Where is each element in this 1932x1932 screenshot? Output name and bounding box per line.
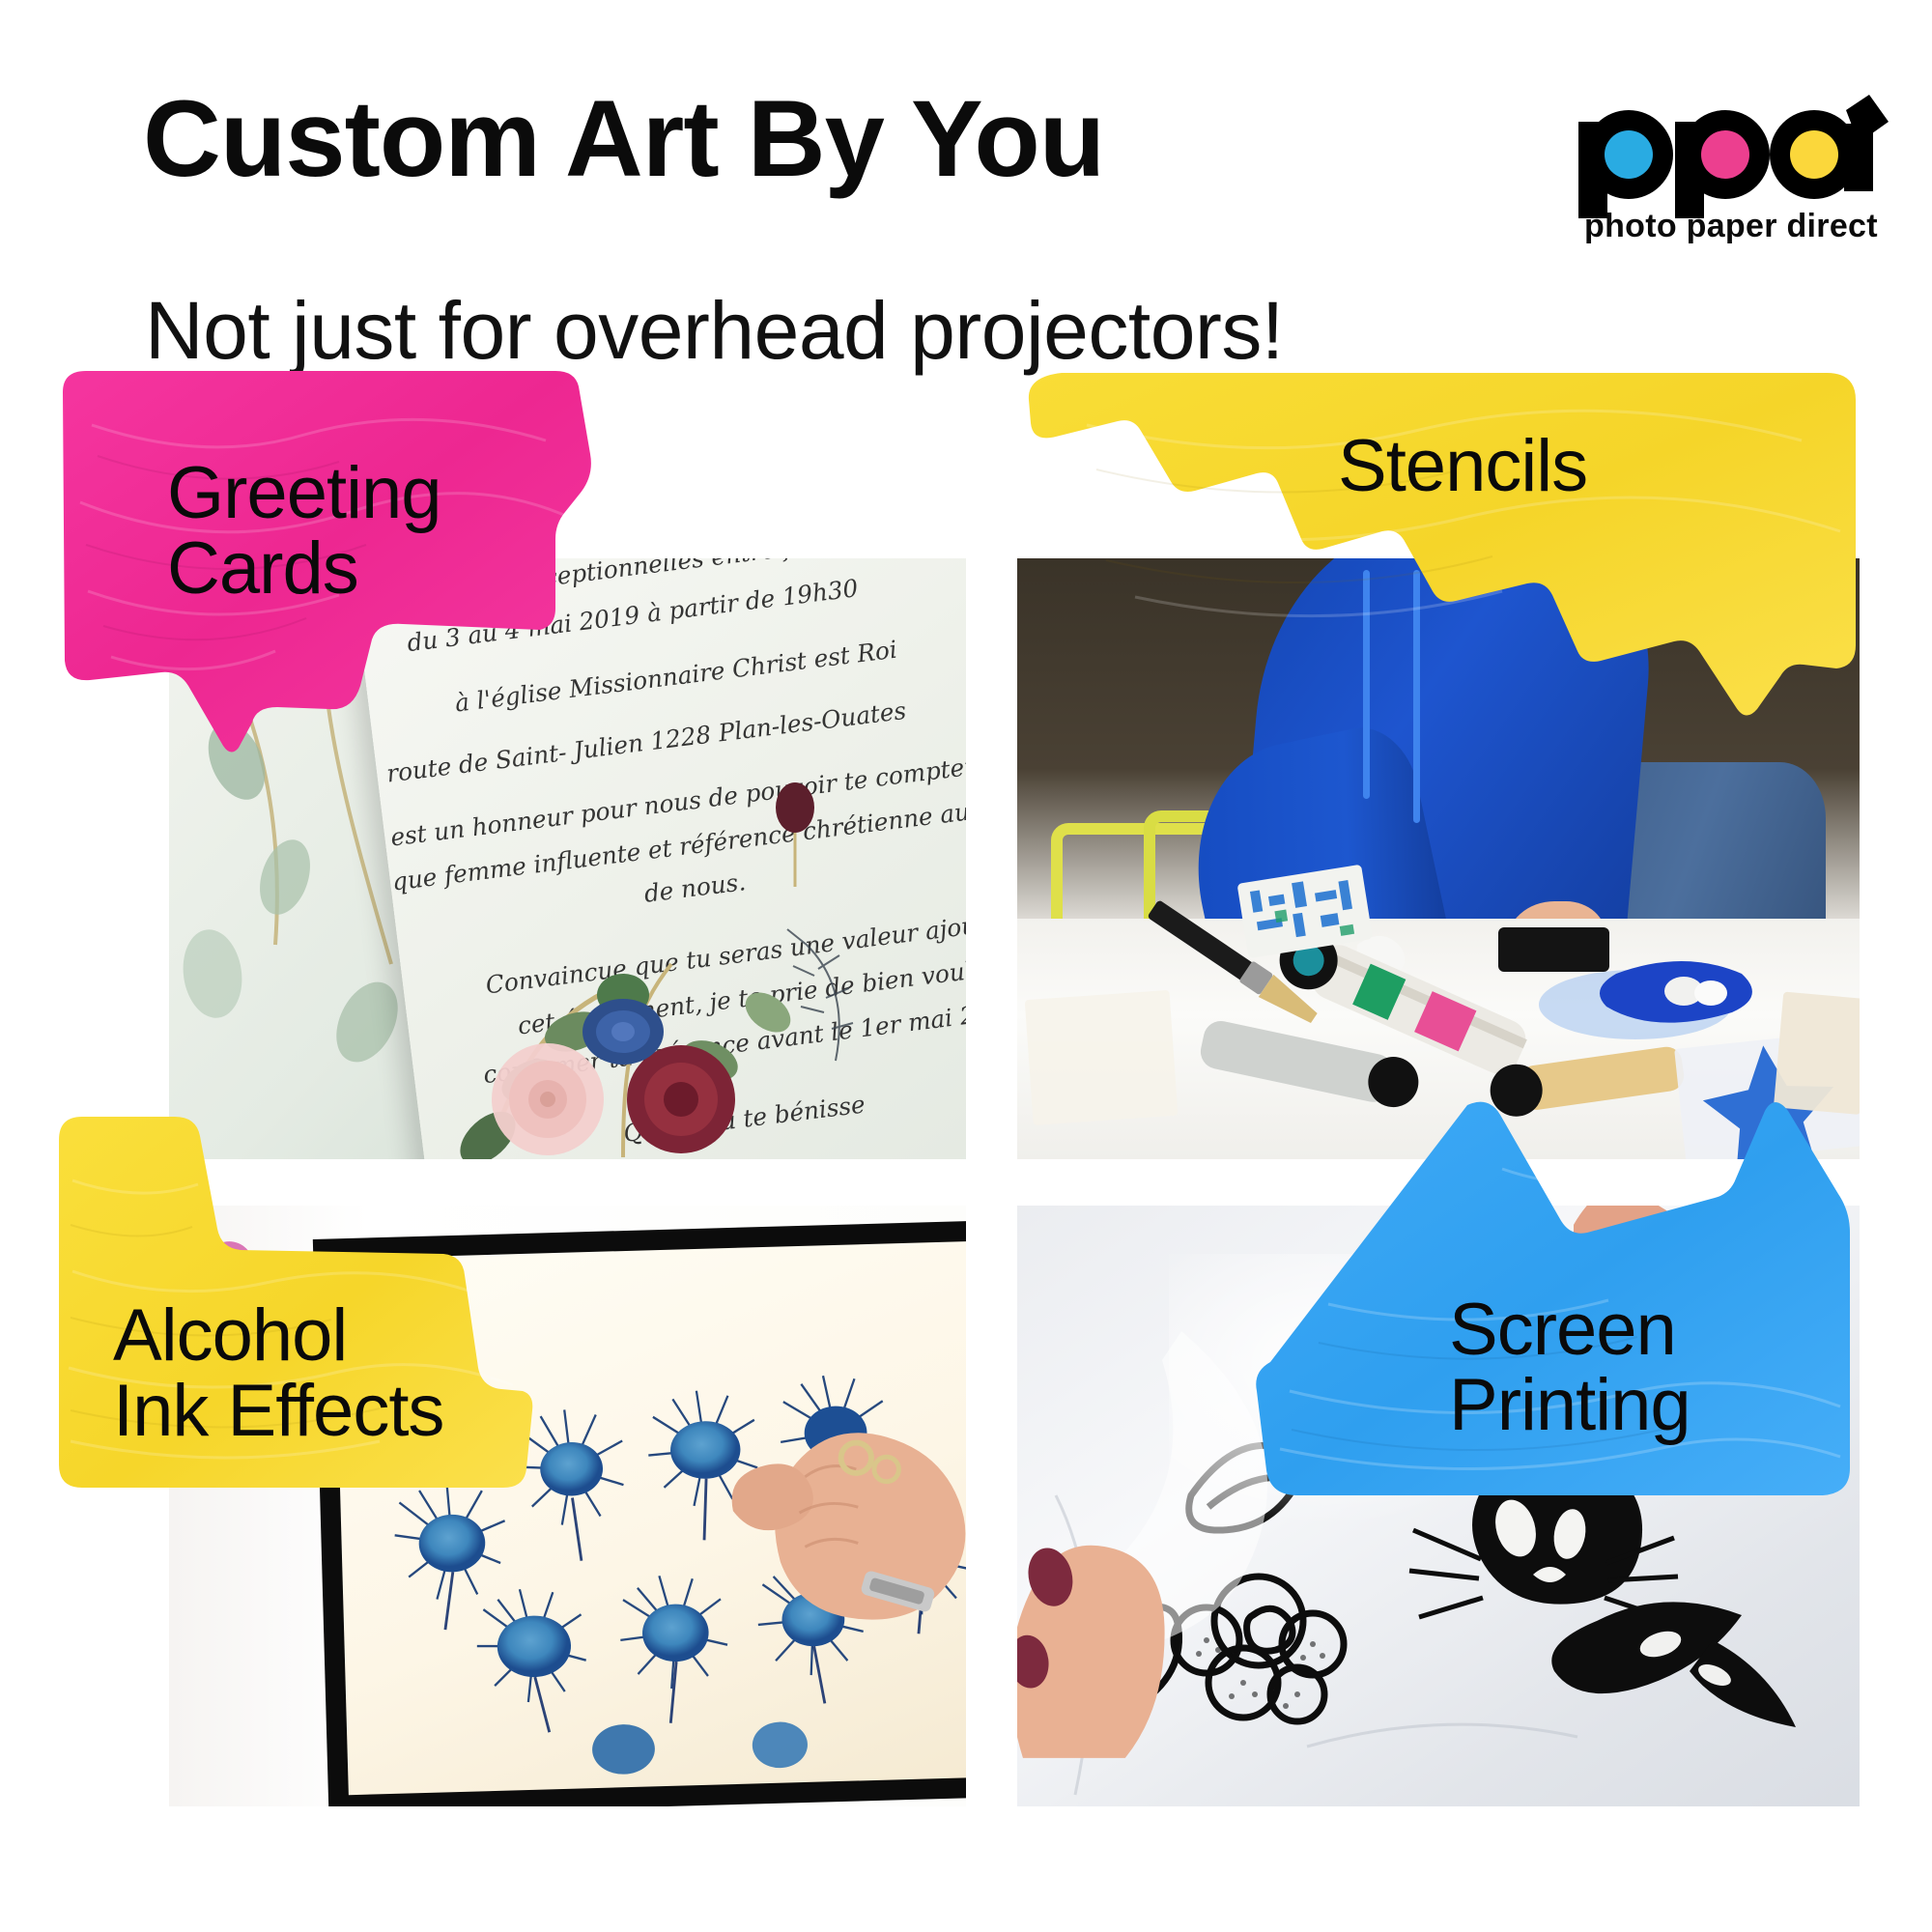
page-subtitle: Not just for overhead projectors! (145, 290, 1284, 371)
banner-label-line2: Printing (1449, 1368, 1690, 1443)
banner-screen-printing-label: Screen Printing (1449, 1293, 1690, 1442)
poster-canvas: Custom Art By You Not just for overhead … (0, 0, 1932, 1932)
banner-label-line1: Screen (1449, 1293, 1690, 1368)
logo-dot-cyan (1605, 130, 1653, 179)
banner-label-line1: Alcohol (113, 1298, 443, 1374)
logo-tagline: photo paper direct (1584, 208, 1878, 245)
banner-stencils-shape (1019, 369, 1869, 717)
banner-label-line2: Ink Effects (113, 1374, 443, 1449)
banner-screen-printing: Screen Printing (1038, 1101, 1869, 1507)
alcohol-ink-hand (664, 1325, 967, 1637)
banner-stencils-label: Stencils (1338, 429, 1587, 504)
banner-stencils: Stencils (1019, 369, 1869, 717)
banner-alcohol-ink: Alcohol Ink Effects (53, 1109, 536, 1495)
banner-label-line1: Stencils (1338, 429, 1587, 504)
logo-dot-yellow (1790, 130, 1838, 179)
banner-label-line2: Cards (167, 531, 441, 607)
banner-greeting-cards: Greeting Cards (53, 367, 633, 753)
logo-dot-magenta (1701, 130, 1749, 179)
page-title: Custom Art By You (143, 85, 1104, 193)
banner-alcohol-ink-label: Alcohol Ink Effects (113, 1298, 443, 1448)
banner-label-line1: Greeting (167, 456, 441, 531)
banner-greeting-cards-label: Greeting Cards (167, 456, 441, 606)
